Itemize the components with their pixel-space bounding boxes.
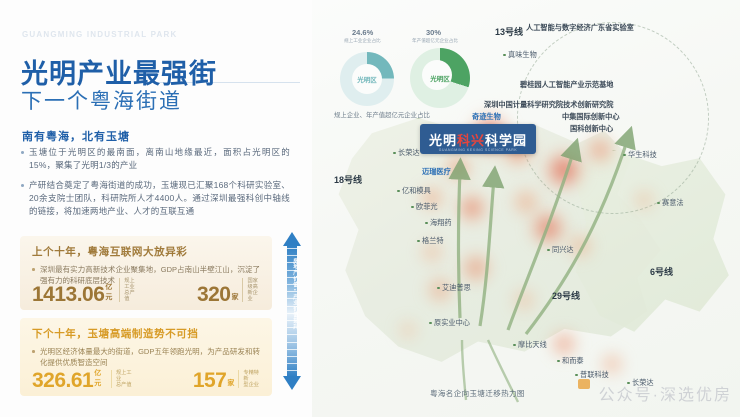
list-item: 产研结合奠定了粤海街道的成功，玉塘现已汇聚168个科研实验室、20余支院士团队，… (20, 179, 290, 218)
map-label: 华生科技 (628, 150, 657, 159)
slide-root: GUANGMING INDUSTRIAL PARK 光明产业最强街 下一个粤海街… (0, 0, 740, 417)
map-label: 人工智能与数字经济广东省实验室 (526, 23, 634, 32)
kicker-text: GUANGMING INDUSTRIAL PARK (22, 30, 202, 40)
stat-item: 1413.06 亿元 规上工业 总产值 (32, 278, 139, 305)
map-panel: 光明区 24.6% 规上工业企业占比 光明区 30% 年产值超亿元企业占比 规上… (312, 0, 740, 417)
watermark-logo-icon (578, 379, 590, 389)
badge-prefix: 光明 (429, 133, 457, 148)
stat-note: 规上工业 总产值 (111, 370, 135, 388)
axis-tick (287, 363, 297, 364)
card-title: 下个十年，玉塘高端制造势不可挡 (32, 326, 272, 341)
park-badge-text: 光明科兴科学园 (429, 130, 527, 149)
stat-card-past-decade: 上个十年，粤海互联网大放异彩 深圳最有实力高新技术企业聚集地，GDP占南山半壁江… (20, 236, 272, 310)
arrow-down-icon (283, 376, 301, 390)
arrow-up-icon (283, 232, 301, 246)
axis-tick (287, 255, 297, 256)
map-label: 中集国际创新中心 (562, 112, 620, 121)
axis-tick (287, 349, 297, 350)
map-label: 长荣达 (398, 148, 420, 157)
stat-note: 国家级高 新企业 (242, 278, 262, 302)
stat-card-next-decade: 下个十年，玉塘高端制造势不可挡 光明区经济体量最大的街道，GDP五年领跑光明，为… (20, 318, 272, 396)
map-label: 欧菲光 (416, 202, 438, 211)
section-heading: 南有粤海，北有玉塘 (22, 128, 130, 144)
donut-caption: 规上企业、年产值超亿元企业占比 (334, 110, 484, 119)
stat-value: 157 (193, 371, 227, 391)
stat-value: 1413.06 (32, 285, 104, 305)
axis-tick (287, 356, 297, 357)
donut-chart-group: 光明区 24.6% 规上工业企业占比 光明区 30% 年产值超亿元企业占比 规上… (334, 26, 476, 122)
badge-accent: 科兴 (457, 133, 485, 148)
map-label: 赛意法 (662, 198, 684, 207)
stat-note: 规上工业 总产值 (119, 278, 139, 302)
watermark: 公众号·深选优房 (599, 381, 732, 405)
donut-chart: 光明区 (340, 52, 394, 106)
card-stats: 326.61 亿元 规上工业 总产值 157 家 专精特新 型企业 (32, 368, 262, 391)
map-label: 亿和模具 (402, 186, 431, 195)
park-badge-english: GUANGMING KEXING SCIENCE PARK (420, 148, 536, 152)
stat-unit: 亿元 (105, 282, 115, 302)
stat-value: 326.61 (32, 371, 93, 391)
stat-note: 专精特新 型企业 (238, 370, 262, 388)
map-label: 碧桂园人工智能产业示范基地 (520, 80, 613, 89)
value-growth-axis: 房地产价值•产业价值提升 (283, 232, 301, 390)
stat-unit: 家 (231, 292, 238, 302)
map-label: 18号线 (334, 176, 362, 185)
map-label: 普联科技 (580, 370, 609, 379)
map-label: 深圳中国计量科学研究院技术创新研究院 (484, 100, 613, 109)
page-subtitle: 下一个粤海街道 (21, 85, 182, 115)
map-label: 同兴达 (552, 245, 574, 254)
map-label: 奇迹生物 (472, 112, 501, 121)
map-label: 摩比天线 (518, 340, 547, 349)
card-title: 上个十年，粤海互联网大放异彩 (32, 244, 272, 259)
axis-tick (287, 248, 297, 249)
card-stats: 1413.06 亿元 规上工业 总产值 320 家 国家级高 新企业 (32, 278, 262, 305)
axis-tick (287, 342, 297, 343)
map-label: 13号线 (495, 28, 523, 37)
map-label: 和而泰 (562, 356, 584, 365)
axis-tick (287, 370, 297, 371)
badge-suffix: 科学园 (485, 133, 527, 148)
park-badge[interactable]: 光明科兴科学园 GUANGMING KEXING SCIENCE PARK (420, 124, 536, 154)
stat-item: 326.61 亿元 规上工业 总产值 (32, 368, 135, 391)
donut-sublabel: 规上工业企业占比 (344, 38, 381, 44)
map-caption: 粤海名企向玉塘迁移热力图 (430, 388, 525, 399)
donut-chart: 光明区 (410, 48, 470, 108)
stat-item: 157 家 专精特新 型企业 (193, 370, 262, 391)
stat-item: 320 家 国家级高 新企业 (197, 278, 262, 305)
axis-label: 房地产价值•产业价值提升 (286, 258, 298, 329)
donut-sublabel: 年产值超亿元企业占比 (412, 38, 458, 44)
map-label: 迈瑞医疗 (422, 167, 451, 176)
donut-center-label: 光明区 (340, 74, 394, 84)
bullet-list: 玉塘位于光明区的最南面，离南山地缘最近，面积占光明区的15%，聚集了光明1/3的… (20, 146, 290, 225)
stat-unit: 亿元 (94, 368, 107, 388)
map-label: 海翔药 (430, 218, 452, 227)
map-label: 原实业中心 (434, 318, 470, 327)
list-item: 玉塘位于光明区的最南面，离南山地缘最近，面积占光明区的15%，聚集了光明1/3的… (20, 146, 290, 172)
axis-tick (287, 334, 297, 335)
map-label: 真味生物 (508, 50, 537, 59)
map-label: 国科创新中心 (570, 124, 613, 133)
donut-percent: 24.6% (352, 28, 373, 37)
map-label: 6号线 (650, 268, 673, 277)
map-label: 艾迪普思 (442, 283, 471, 292)
card-body: 光明区经济体量最大的街道，GDP五年领跑光明，为产品研发和转化提供优质智造空间 (40, 346, 260, 368)
left-panel: GUANGMING INDUSTRIAL PARK 光明产业最强街 下一个粤海街… (0, 0, 312, 417)
donut-center-label: 光明区 (410, 73, 470, 83)
map-label: 格兰特 (422, 236, 444, 245)
donut-percent: 30% (426, 28, 441, 37)
stat-unit: 家 (227, 378, 234, 388)
map-label: 29号线 (552, 292, 580, 301)
stat-value: 320 (197, 285, 231, 305)
